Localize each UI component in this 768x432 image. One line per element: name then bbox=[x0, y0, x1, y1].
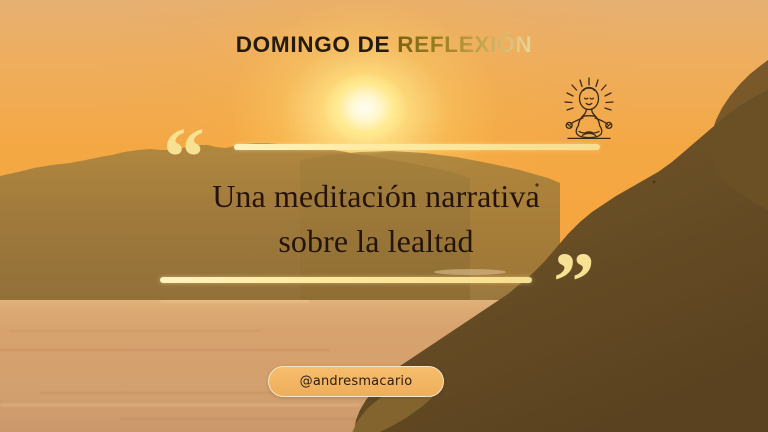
meditating-person-icon bbox=[552, 74, 626, 148]
quote-line-1: Una meditación narrativa bbox=[96, 174, 656, 219]
title-dark-segment: DOMINGO DE bbox=[236, 32, 397, 57]
author-handle-pill[interactable]: @andresmacario bbox=[268, 366, 444, 397]
quote-close-icon: ” bbox=[553, 241, 595, 325]
quote-bottom-rule bbox=[160, 277, 532, 283]
sea-wave-line bbox=[120, 418, 460, 420]
page-title: DOMINGO DE REFLEXIÓN bbox=[0, 34, 768, 57]
sea-shimmer bbox=[0, 287, 768, 327]
title-accent-segment: REFLEXIÓN bbox=[397, 32, 532, 57]
sea-wave-line bbox=[0, 349, 330, 351]
sea-highlight-line bbox=[0, 404, 360, 406]
quote-top-rule bbox=[234, 144, 600, 150]
quote-poster: DOMINGO DE REFLEXIÓN bbox=[0, 0, 768, 432]
author-handle-label: @andresmacario bbox=[300, 374, 413, 389]
sea-wave-line bbox=[10, 330, 260, 332]
sea-highlight-line bbox=[160, 300, 310, 302]
